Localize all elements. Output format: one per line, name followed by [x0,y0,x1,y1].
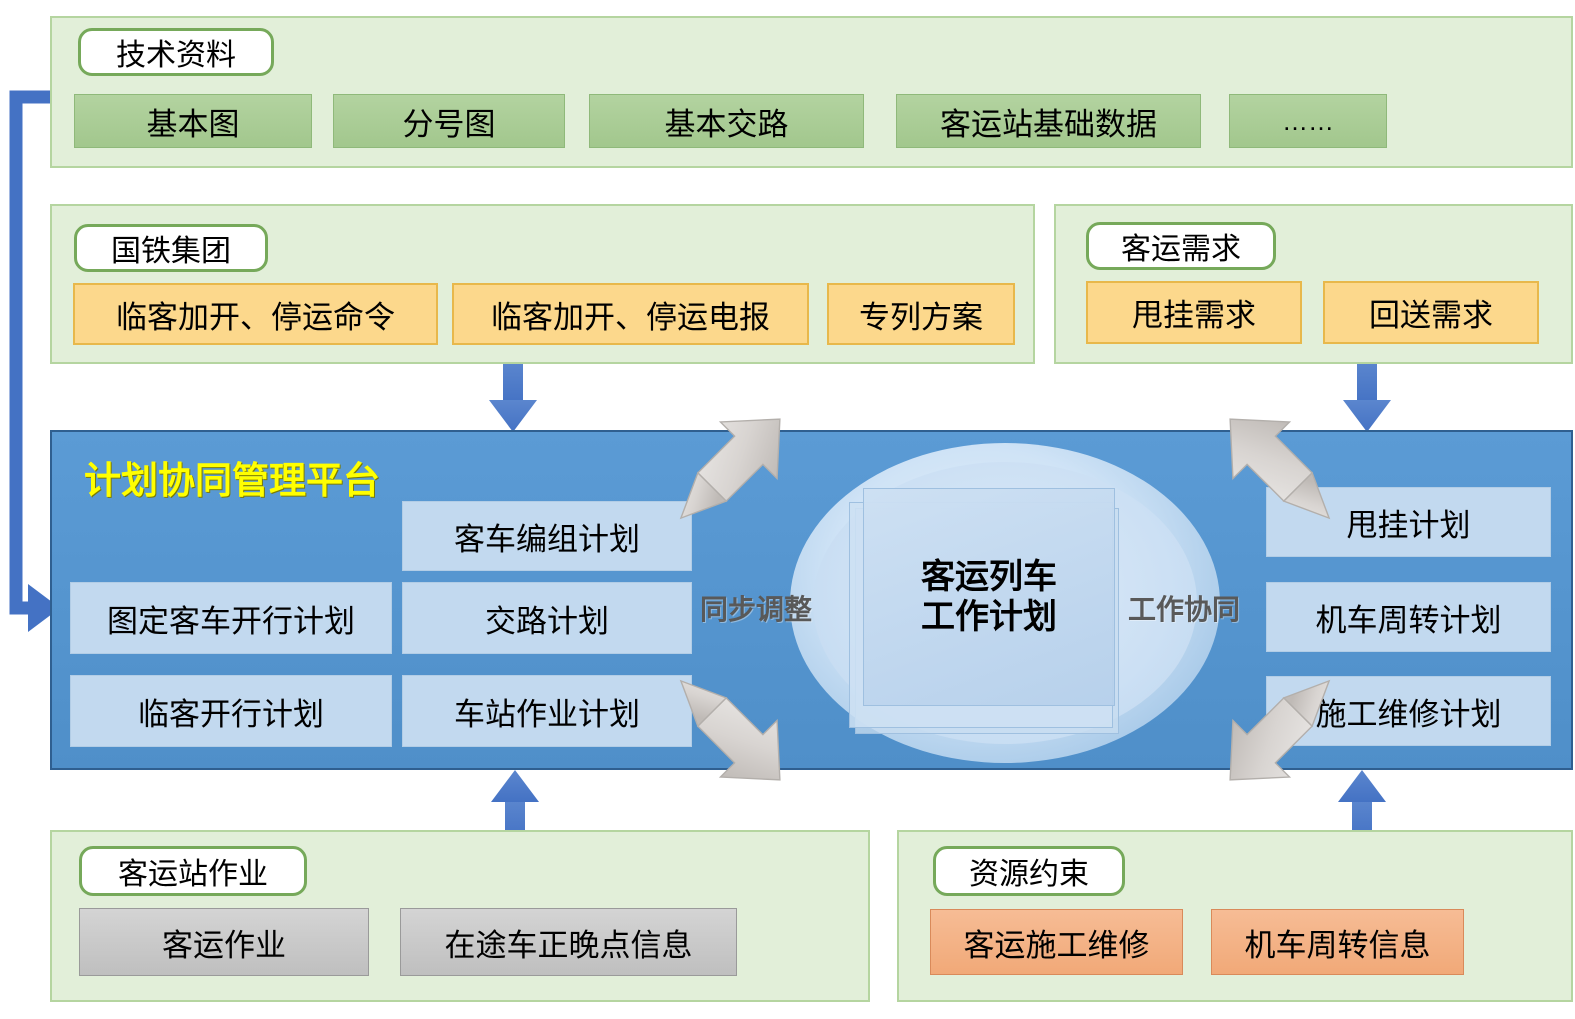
plan-left-1[interactable]: 图定客车开行计划 [70,582,392,654]
center-card-label: 客运列车 工作计划 [921,557,1057,637]
section-chip-tech-data: 技术资料 [78,28,274,76]
chip-label: 国铁集团 [111,226,231,270]
chip-label: 技术资料 [116,30,236,74]
box-label: 客运作业 [162,920,286,965]
tech-data-item-1[interactable]: 基本图 [74,94,312,148]
plan-left-2[interactable]: 临客开行计划 [70,675,392,747]
box-label: 交路计划 [485,596,609,641]
box-label: 客车编组计划 [454,514,640,559]
section-chip-resource-constraints: 资源约束 [933,846,1125,896]
center-card-front[interactable]: 客运列车 工作计划 [863,488,1115,706]
box-label: 临客加开、停运电报 [491,292,770,337]
box-label: 客运站基础数据 [940,99,1157,144]
plan-middle-3[interactable]: 车站作业计划 [402,675,692,747]
plan-middle-2[interactable]: 交路计划 [402,582,692,654]
box-label: 基本图 [147,99,240,144]
box-label: 基本交路 [665,99,789,144]
box-label: 临客加开、停运命令 [116,292,395,337]
plan-right-3[interactable]: 施工维修计划 [1266,676,1551,746]
plan-middle-1[interactable]: 客车编组计划 [402,501,692,571]
chip-label: 客运需求 [1121,224,1241,268]
chip-label: 资源约束 [969,849,1089,893]
passenger-demand-item-1[interactable]: 甩挂需求 [1086,281,1302,344]
box-label: 机车周转信息 [1245,920,1431,965]
national-railway-item-1[interactable]: 临客加开、停运命令 [73,283,438,345]
box-label: 分号图 [403,99,496,144]
down-arrow-passenger-demand [1343,362,1391,432]
national-railway-item-3[interactable]: 专列方案 [827,283,1015,345]
resource-constraints-item-2[interactable]: 机车周转信息 [1211,909,1464,975]
side-label-sync: 同步调整 [700,588,812,628]
tech-data-item-3[interactable]: 基本交路 [589,94,864,148]
plan-right-2[interactable]: 机车周转计划 [1266,582,1551,652]
box-label: 图定客车开行计划 [107,596,355,641]
section-chip-station-operations: 客运站作业 [79,846,307,896]
box-label: 专列方案 [859,292,983,337]
resource-constraints-item-1[interactable]: 客运施工维修 [930,909,1183,975]
down-arrow-national-railway [489,362,537,432]
chip-label: 客运站作业 [118,849,268,893]
side-label-coordination: 工作协同 [1128,588,1240,628]
box-label: 车站作业计划 [454,689,640,734]
box-label: 在途车正晚点信息 [445,920,693,965]
station-operations-item-1[interactable]: 客运作业 [79,908,369,976]
box-label: 甩挂需求 [1132,290,1256,335]
box-label: 机车周转计划 [1316,595,1502,640]
box-label: 回送需求 [1369,290,1493,335]
passenger-demand-item-2[interactable]: 回送需求 [1323,281,1539,344]
tech-data-item-4[interactable]: 客运站基础数据 [896,94,1201,148]
box-label: 施工维修计划 [1316,689,1502,734]
box-label: 客运施工维修 [964,920,1150,965]
box-label: 临客开行计划 [138,689,324,734]
section-chip-passenger-demand: 客运需求 [1086,222,1276,270]
box-label: …… [1282,106,1334,137]
section-chip-national-railway: 国铁集团 [74,224,268,272]
national-railway-item-2[interactable]: 临客加开、停运电报 [452,283,809,345]
center-label-line2: 工作计划 [921,597,1057,637]
station-operations-item-2[interactable]: 在途车正晚点信息 [400,908,737,976]
plan-right-1[interactable]: 甩挂计划 [1266,487,1551,557]
tech-data-item-2[interactable]: 分号图 [333,94,565,148]
tech-data-item-5[interactable]: …… [1229,94,1387,148]
platform-title: 计划协同管理平台 [84,450,380,504]
box-label: 甩挂计划 [1347,500,1471,545]
diagram-canvas: 技术资料 基本图 分号图 基本交路 客运站基础数据 …… 国铁集团 临客加开、停… [0,0,1575,1019]
center-label-line1: 客运列车 [921,557,1057,597]
